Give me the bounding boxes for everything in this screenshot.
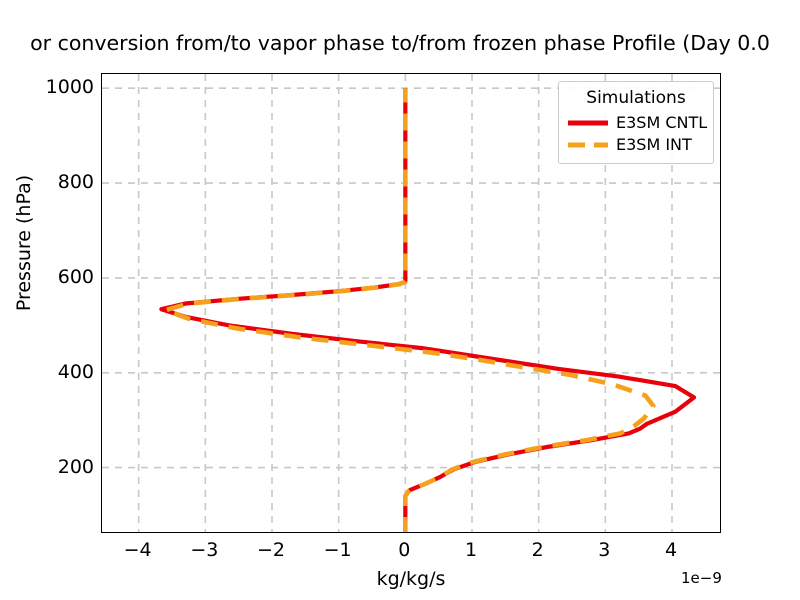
x-axis-offset-text: 1e−9 xyxy=(681,570,722,587)
x-tick-label: −3 xyxy=(174,541,234,560)
y-tick-label: 1000 xyxy=(38,78,94,97)
y-axis-label: Pressure (hPa) xyxy=(13,123,35,363)
legend-entry: E3SM INT xyxy=(567,134,705,156)
legend-entries: E3SM CNTLE3SM INT xyxy=(567,112,705,156)
legend-entry-label: E3SM INT xyxy=(616,136,692,154)
y-tick-label: 600 xyxy=(38,268,94,287)
chart-title: or conversion from/to vapor phase to/fro… xyxy=(0,30,800,56)
x-tick-label: 3 xyxy=(574,541,634,560)
x-tick-label: −2 xyxy=(241,541,301,560)
chart-figure: or conversion from/to vapor phase to/fro… xyxy=(0,0,800,600)
x-tick-label: −1 xyxy=(308,541,368,560)
y-tick-label: 800 xyxy=(38,173,94,192)
y-axis-tick-labels: 2004006008001000 xyxy=(30,73,94,533)
x-tick-label: 0 xyxy=(374,541,434,560)
legend-entry-label: E3SM CNTL xyxy=(616,114,707,132)
legend-entry: E3SM CNTL xyxy=(567,112,705,134)
x-axis-tick-labels: −4−3−2−101234 xyxy=(101,541,721,567)
y-tick-label: 400 xyxy=(38,363,94,382)
x-tick-label: 2 xyxy=(508,541,568,560)
legend-title: Simulations xyxy=(567,88,705,112)
x-tick-label: 4 xyxy=(641,541,701,560)
x-tick-label: 1 xyxy=(441,541,501,560)
legend-color-swatch xyxy=(567,137,609,153)
y-tick-label: 200 xyxy=(38,458,94,477)
legend-color-swatch xyxy=(567,115,609,131)
x-axis-label: kg/kg/s xyxy=(101,568,721,590)
x-tick-label: −4 xyxy=(108,541,168,560)
legend: Simulations E3SM CNTLE3SM INT xyxy=(558,81,714,164)
